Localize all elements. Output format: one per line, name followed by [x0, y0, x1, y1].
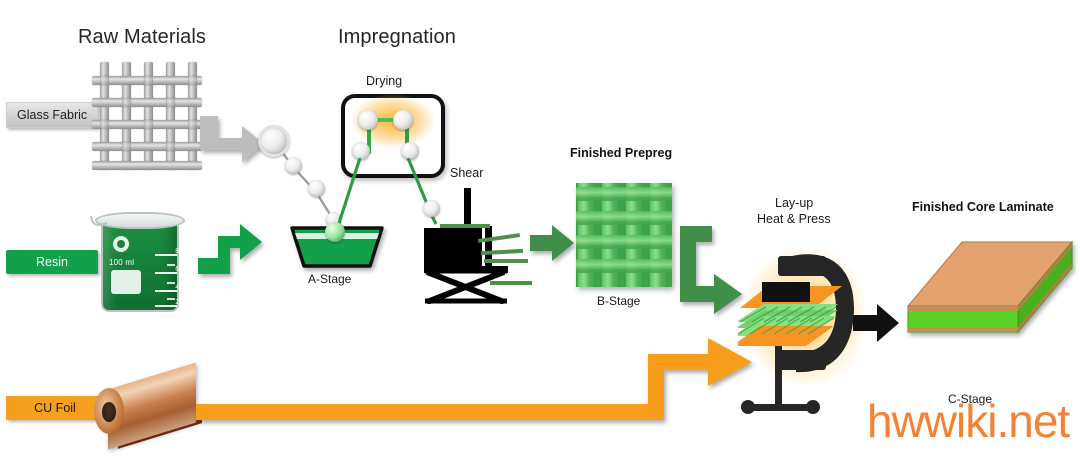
finished-prepreg-label: Finished Prepreg — [570, 146, 672, 160]
shear-right-post — [485, 226, 492, 270]
prepreg-strip-0 — [440, 224, 490, 228]
resin-badge[interactable]: Resin — [6, 250, 98, 274]
beaker-volume-label: 100 ml — [109, 258, 134, 267]
prepreg-sheet-icon — [576, 183, 672, 287]
roller-1 — [258, 125, 290, 157]
b-stage-label: B-Stage — [597, 294, 640, 308]
beaker-icon: 100 ml 80 60 40 20 — [95, 208, 187, 316]
oven-roller-top-right — [393, 110, 413, 130]
drying-label: Drying — [366, 74, 402, 88]
prepreg-strip-3 — [484, 259, 528, 263]
a-stage-label: A-Stage — [308, 272, 351, 286]
beaker-grad-60: 60 — [175, 266, 183, 273]
section-title-impregnation: Impregnation — [338, 26, 456, 49]
arrow-cufoil-to-press — [196, 332, 756, 428]
press-platen-top — [762, 282, 810, 302]
clamp-handle-knob-right — [806, 400, 820, 414]
arrow-prepreg-to-press — [678, 224, 744, 334]
beaker-grad-80: 80 — [175, 248, 183, 255]
shear-label: Shear — [450, 166, 483, 180]
glass-fabric-badge[interactable]: Glass Fabric — [6, 102, 98, 128]
site-watermark: hwwiki.net — [867, 394, 1069, 448]
clamp-handle-bar — [745, 404, 815, 411]
arrow-resin-to-bath — [196, 222, 264, 278]
section-title-raw-materials: Raw Materials — [78, 26, 206, 49]
roller-2 — [285, 157, 302, 174]
beaker-write-patch — [111, 270, 141, 294]
layup-label-line2: Heat & Press — [757, 212, 831, 226]
arrow-press-to-laminate — [851, 302, 901, 344]
shear-legs — [424, 270, 508, 304]
shear-table-body — [424, 228, 482, 266]
cu-foil-badge[interactable]: CU Foil — [6, 396, 104, 420]
roller-5 — [423, 200, 440, 217]
beaker-grad-20: 20 — [175, 299, 183, 306]
prepreg-strip-2 — [481, 249, 523, 255]
beaker-logo-icon — [113, 236, 129, 252]
woven-fabric-icon — [92, 62, 204, 172]
clamp-handle-knob-left — [741, 400, 755, 414]
bath-dip-roller — [325, 222, 345, 242]
copper-foil-roll-icon — [92, 376, 212, 448]
process-flow-diagram: Raw Materials Impregnation Glass Fabric — [0, 0, 1080, 464]
prepreg-strip-4 — [490, 281, 532, 285]
layup-label-line1: Lay-up — [775, 196, 813, 210]
arrow-shear-to-prepreg — [528, 223, 576, 263]
oven-roller-top-left — [358, 110, 378, 130]
finished-core-laminate-label: Finished Core Laminate — [912, 200, 1054, 214]
core-laminate-icon — [900, 236, 1080, 366]
beaker-grad-40: 40 — [175, 284, 183, 291]
